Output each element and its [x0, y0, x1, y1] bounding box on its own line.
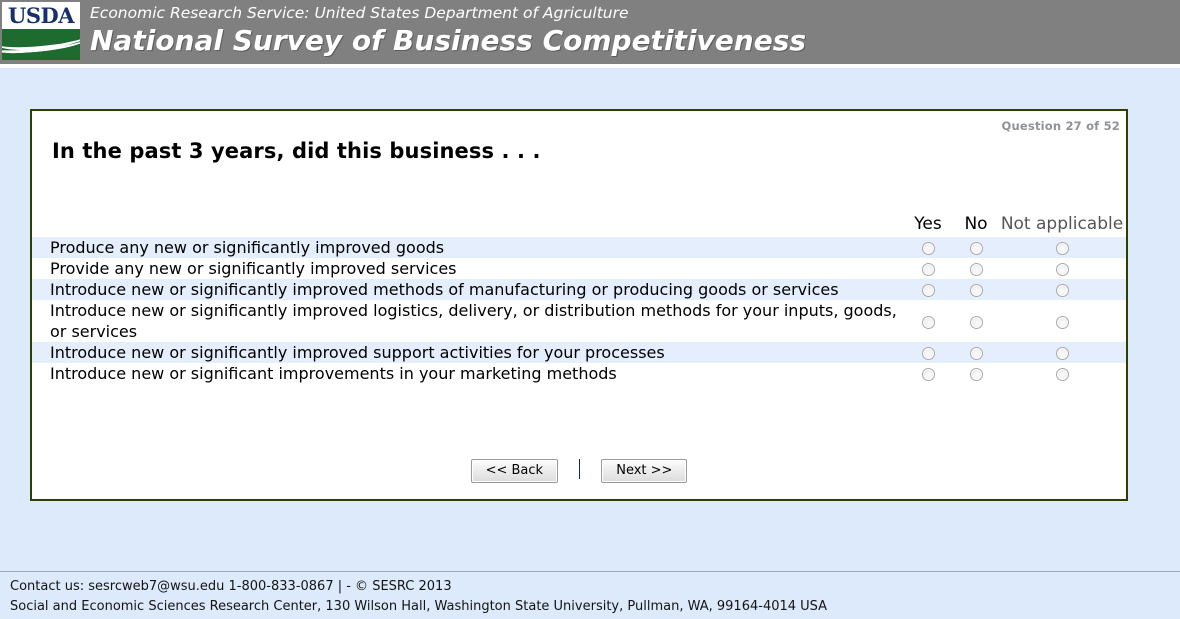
site-header: USDA Economic Research Service: United S… [0, 0, 1180, 64]
radio-not-applicable[interactable] [1056, 284, 1069, 297]
radio-cell-yes[interactable] [904, 237, 952, 258]
answer-table-body: Produce any new or significantly improve… [32, 237, 1126, 384]
row-spacer-right [1124, 300, 1126, 342]
column-header-no: No [952, 179, 1000, 237]
row-spacer-right [1124, 279, 1126, 300]
radio-not-applicable[interactable] [1056, 242, 1069, 255]
item-label: Introduce new or significantly improved … [50, 279, 904, 300]
table-row: Introduce new or significantly improved … [32, 279, 1126, 300]
radio-yes[interactable] [922, 242, 935, 255]
header-text-block: Economic Research Service: United States… [80, 0, 806, 64]
radio-cell-no[interactable] [952, 363, 1000, 384]
radio-yes[interactable] [922, 368, 935, 381]
site-footer: Contact us: sesrcweb7@wsu.edu 1-800-833-… [0, 571, 1180, 619]
answer-table-head: Yes No Not applicable [32, 179, 1126, 237]
row-spacer-right [1124, 363, 1126, 384]
radio-no[interactable] [970, 263, 983, 276]
row-spacer-right [1124, 342, 1126, 363]
radio-not-applicable[interactable] [1056, 316, 1069, 329]
row-spacer-left [32, 258, 50, 279]
table-row: Introduce new or significantly improved … [32, 300, 1126, 342]
radio-cell-not-applicable[interactable] [1000, 363, 1124, 384]
radio-cell-no[interactable] [952, 342, 1000, 363]
radio-no[interactable] [970, 316, 983, 329]
item-label: Introduce new or significantly improved … [50, 300, 904, 342]
radio-cell-not-applicable[interactable] [1000, 258, 1124, 279]
back-button[interactable]: << Back [471, 459, 558, 483]
spacer-cell-left [32, 179, 50, 237]
table-row: Introduce new or significant improvement… [32, 363, 1126, 384]
agency-line: Economic Research Service: United States… [90, 3, 806, 23]
column-header-blank [50, 179, 904, 237]
radio-cell-no[interactable] [952, 300, 1000, 342]
radio-cell-yes[interactable] [904, 258, 952, 279]
table-row: Provide any new or significantly improve… [32, 258, 1126, 279]
spacer-cell-right [1124, 179, 1126, 237]
radio-no[interactable] [970, 284, 983, 297]
radio-cell-not-applicable[interactable] [1000, 237, 1124, 258]
radio-cell-not-applicable[interactable] [1000, 279, 1124, 300]
footer-contact-line: Contact us: sesrcweb7@wsu.edu 1-800-833-… [0, 572, 1180, 597]
usda-logo-text: USDA [2, 4, 80, 28]
usda-logo: USDA [2, 2, 80, 60]
row-spacer-left [32, 279, 50, 300]
column-header-row: Yes No Not applicable [32, 179, 1126, 237]
question-counter: Question 27 of 52 [1002, 119, 1120, 133]
row-spacer-left [32, 363, 50, 384]
row-spacer-right [1124, 258, 1126, 279]
radio-cell-yes[interactable] [904, 300, 952, 342]
table-row: Introduce new or significantly improved … [32, 342, 1126, 363]
radio-no[interactable] [970, 347, 983, 360]
radio-not-applicable[interactable] [1056, 263, 1069, 276]
item-label: Produce any new or significantly improve… [50, 237, 904, 258]
radio-no[interactable] [970, 368, 983, 381]
table-row: Produce any new or significantly improve… [32, 237, 1126, 258]
survey-panel: Question 27 of 52 In the past 3 years, d… [30, 109, 1128, 501]
column-header-yes: Yes [904, 179, 952, 237]
item-label: Introduce new or significantly improved … [50, 342, 904, 363]
radio-yes[interactable] [922, 316, 935, 329]
radio-cell-not-applicable[interactable] [1000, 342, 1124, 363]
radio-yes[interactable] [922, 263, 935, 276]
radio-yes[interactable] [922, 347, 935, 360]
radio-cell-no[interactable] [952, 237, 1000, 258]
row-spacer-left [32, 237, 50, 258]
next-button[interactable]: Next >> [601, 459, 687, 483]
item-label: Provide any new or significantly improve… [50, 258, 904, 279]
row-spacer-left [32, 342, 50, 363]
radio-cell-yes[interactable] [904, 342, 952, 363]
radio-not-applicable[interactable] [1056, 347, 1069, 360]
radio-cell-yes[interactable] [904, 363, 952, 384]
row-spacer-left [32, 300, 50, 342]
radio-cell-not-applicable[interactable] [1000, 300, 1124, 342]
radio-yes[interactable] [922, 284, 935, 297]
radio-cell-no[interactable] [952, 258, 1000, 279]
navigation-bar: << Back Next >> [32, 459, 1126, 483]
survey-title: National Survey of Business Competitiven… [90, 23, 806, 59]
footer-address-line: Social and Economic Sciences Research Ce… [0, 597, 1180, 617]
radio-not-applicable[interactable] [1056, 368, 1069, 381]
radio-cell-no[interactable] [952, 279, 1000, 300]
radio-cell-yes[interactable] [904, 279, 952, 300]
column-header-not-applicable: Not applicable [1000, 179, 1124, 237]
item-label: Introduce new or significant improvement… [50, 363, 904, 384]
page-title: In the past 3 years, did this business .… [52, 139, 541, 163]
answer-table: Yes No Not applicable Produce any new or… [32, 179, 1126, 384]
page-body: Question 27 of 52 In the past 3 years, d… [0, 68, 1180, 571]
radio-no[interactable] [970, 242, 983, 255]
nav-separator [579, 459, 580, 479]
row-spacer-right [1124, 237, 1126, 258]
